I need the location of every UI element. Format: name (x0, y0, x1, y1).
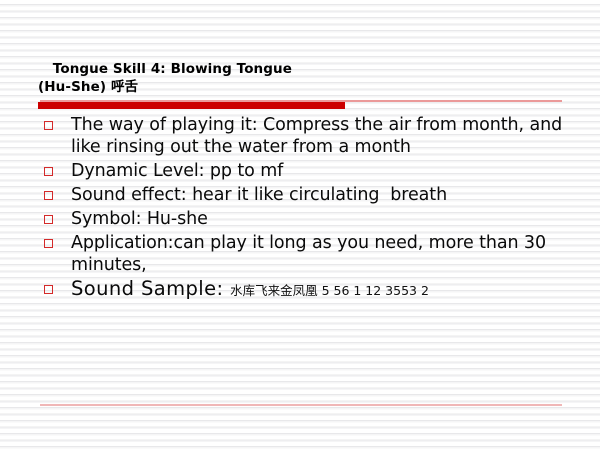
title-romanization: (Hu-She) (38, 79, 111, 95)
square-bullet-icon (44, 239, 53, 248)
list-item-label: Sound effect: hear it like circulating b… (71, 184, 589, 206)
slide-title: Tongue Skill 4: Blowing Tongue (Hu-She) … (38, 60, 568, 96)
list-item-label: The way of playing it: Compress the air … (71, 114, 589, 158)
list-item-label: Symbol: Hu-she (71, 208, 589, 230)
list-item: Dynamic Level: pp to mf (44, 160, 589, 182)
square-bullet-icon (44, 167, 53, 176)
sound-sample-label: Sound Sample: (71, 277, 230, 300)
title-line-primary: Tongue Skill 4: Blowing Tongue (38, 60, 568, 78)
square-bullet-icon (44, 285, 53, 294)
square-bullet-icon (44, 215, 53, 224)
title-chinese: 呼舌 (111, 79, 138, 95)
list-item-label: Sound Sample: 水库飞来金凤凰 5 56 1 12 3553 2 (71, 278, 589, 302)
list-item: Sound effect: hear it like circulating b… (44, 184, 589, 206)
square-bullet-icon (44, 191, 53, 200)
slide: Tongue Skill 4: Blowing Tongue (Hu-She) … (0, 0, 600, 450)
title-line-secondary: (Hu-She) 呼舌 (38, 78, 568, 96)
title-underline-accent (38, 102, 345, 109)
list-item: The way of playing it: Compress the air … (44, 114, 589, 158)
list-item-label: Application:can play it long as you need… (71, 232, 589, 276)
square-bullet-icon (44, 121, 53, 130)
sound-sample-notation: 水库飞来金凤凰 5 56 1 12 3553 2 (230, 283, 429, 298)
list-item: Symbol: Hu-she (44, 208, 589, 230)
list-item-label: Dynamic Level: pp to mf (71, 160, 589, 182)
list-item: Application:can play it long as you need… (44, 232, 589, 276)
bullet-list: The way of playing it: Compress the air … (44, 114, 589, 304)
list-item: Sound Sample: 水库飞来金凤凰 5 56 1 12 3553 2 (44, 278, 589, 302)
footer-rule (40, 404, 562, 406)
